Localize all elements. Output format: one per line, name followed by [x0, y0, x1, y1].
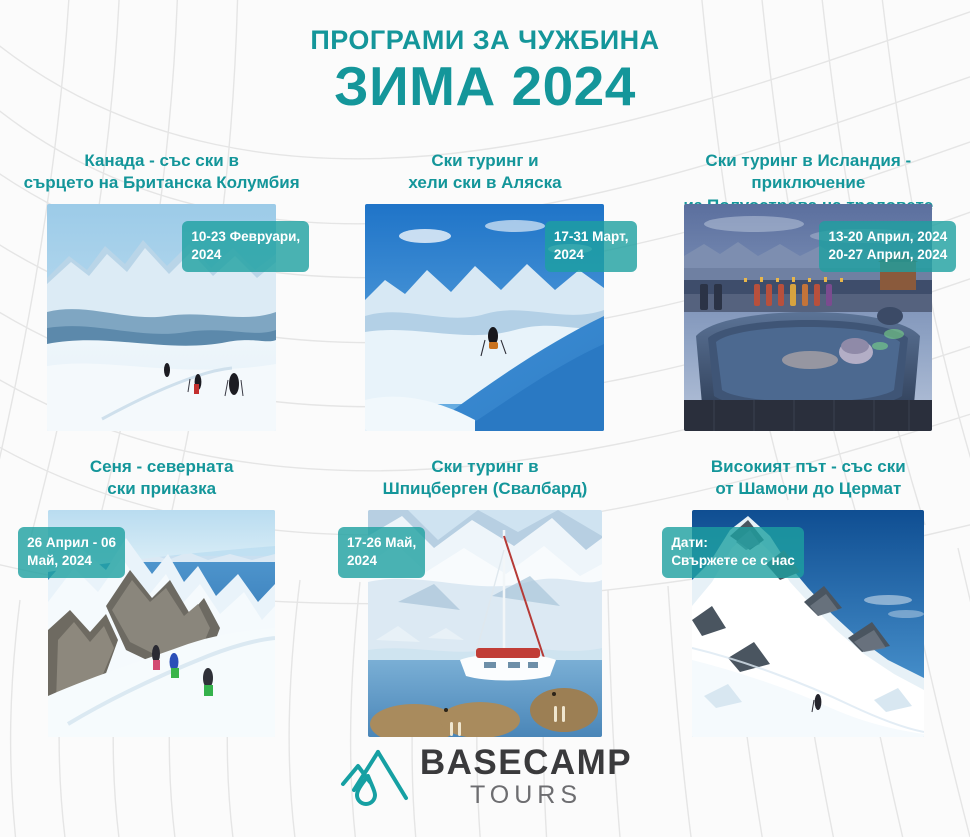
tour-card-alaska[interactable]: Ски туринг и хели ски в Аляска [323, 150, 646, 436]
card-date-badge: Дати: Свържете се с нас [662, 527, 803, 578]
brand-name: BASECAMP [420, 745, 632, 780]
card-title-line-2: хели ски в Аляска [335, 172, 635, 194]
card-title-line-2: ски приказка [12, 478, 312, 500]
poster-header: ПРОГРАМИ ЗА ЧУЖБИНА ЗИМА 2024 [0, 0, 970, 115]
card-title-line-1: Ски туринг и [335, 150, 635, 172]
card-date-badge: 26 Април - 06 Май, 2024 [18, 527, 125, 578]
card-date-badge: 17-26 Май, 2024 [338, 527, 425, 578]
card-title: Високият път - със ски от Шамони до Церм… [658, 456, 958, 504]
card-title: Ски туринг в Шпицберген (Свалбард) [335, 456, 635, 504]
card-row-top: Канада - със ски в сърцето на Британска … [0, 150, 970, 436]
tour-card-iceland[interactable]: Ски туринг в Исландия - приключение из П… [647, 150, 970, 436]
tour-card-svalbard[interactable]: Ски туринг в Шпицберген (Свалбард) [323, 456, 646, 742]
footer-branding: BASECAMP TOURS [0, 745, 970, 808]
page-title: ЗИМА 2024 [0, 58, 970, 116]
card-title-line-2: сърцето на Британска Колумбия [12, 172, 312, 194]
card-title-line-2: Шпицберген (Свалбард) [335, 478, 635, 500]
card-title-line-1: Сеня - северната [12, 456, 312, 478]
card-title-line-1: Канада - със ски в [12, 150, 312, 172]
header-kicker: ПРОГРАМИ ЗА ЧУЖБИНА [0, 26, 970, 56]
card-date-badge: 13-20 Април, 2024 20-27 Април, 2024 [819, 221, 956, 272]
card-date-badge: 17-31 Март, 2024 [545, 221, 638, 272]
brand-subtitle: TOURS [420, 783, 632, 808]
card-media: Дати: Свържете се с нас [692, 510, 924, 742]
tour-card-senja[interactable]: Сеня - северната ски приказка [0, 456, 323, 742]
card-media: 13-20 Април, 2024 20-27 Април, 2024 [684, 204, 932, 436]
tour-card-grid: Канада - със ски в сърцето на Британска … [0, 150, 970, 742]
card-media: 17-26 Май, 2024 [368, 510, 602, 742]
tour-card-canada[interactable]: Канада - със ски в сърцето на Британска … [0, 150, 323, 436]
brand-logo[interactable]: BASECAMP TOURS [338, 745, 632, 808]
poster-page: ПРОГРАМИ ЗА ЧУЖБИНА ЗИМА 2024 Канада - с… [0, 0, 970, 837]
card-title: Канада - със ски в сърцето на Британска … [12, 150, 312, 198]
mountain-droplet-icon [338, 746, 410, 808]
tour-card-haute-route[interactable]: Високият път - със ски от Шамони до Церм… [647, 456, 970, 742]
card-date-badge: 10-23 Февруари, 2024 [182, 221, 309, 272]
card-title-line-1: Ски туринг в [335, 456, 635, 478]
card-media: 26 Април - 06 Май, 2024 [48, 510, 275, 742]
card-title: Ски туринг и хели ски в Аляска [335, 150, 635, 198]
card-title: Сеня - северната ски приказка [12, 456, 312, 504]
card-media: 10-23 Февруари, 2024 [47, 204, 276, 436]
card-row-bottom: Сеня - северната ски приказка [0, 456, 970, 742]
card-title: Ски туринг в Исландия - приключение из П… [658, 150, 958, 198]
card-title-line-1: Ски туринг в Исландия - приключение [658, 150, 958, 195]
card-title-line-2: от Шамони до Цермат [658, 478, 958, 500]
brand-wordmark: BASECAMP TOURS [420, 745, 632, 808]
card-media: 17-31 Март, 2024 [365, 204, 604, 436]
card-title-line-1: Високият път - със ски [658, 456, 958, 478]
